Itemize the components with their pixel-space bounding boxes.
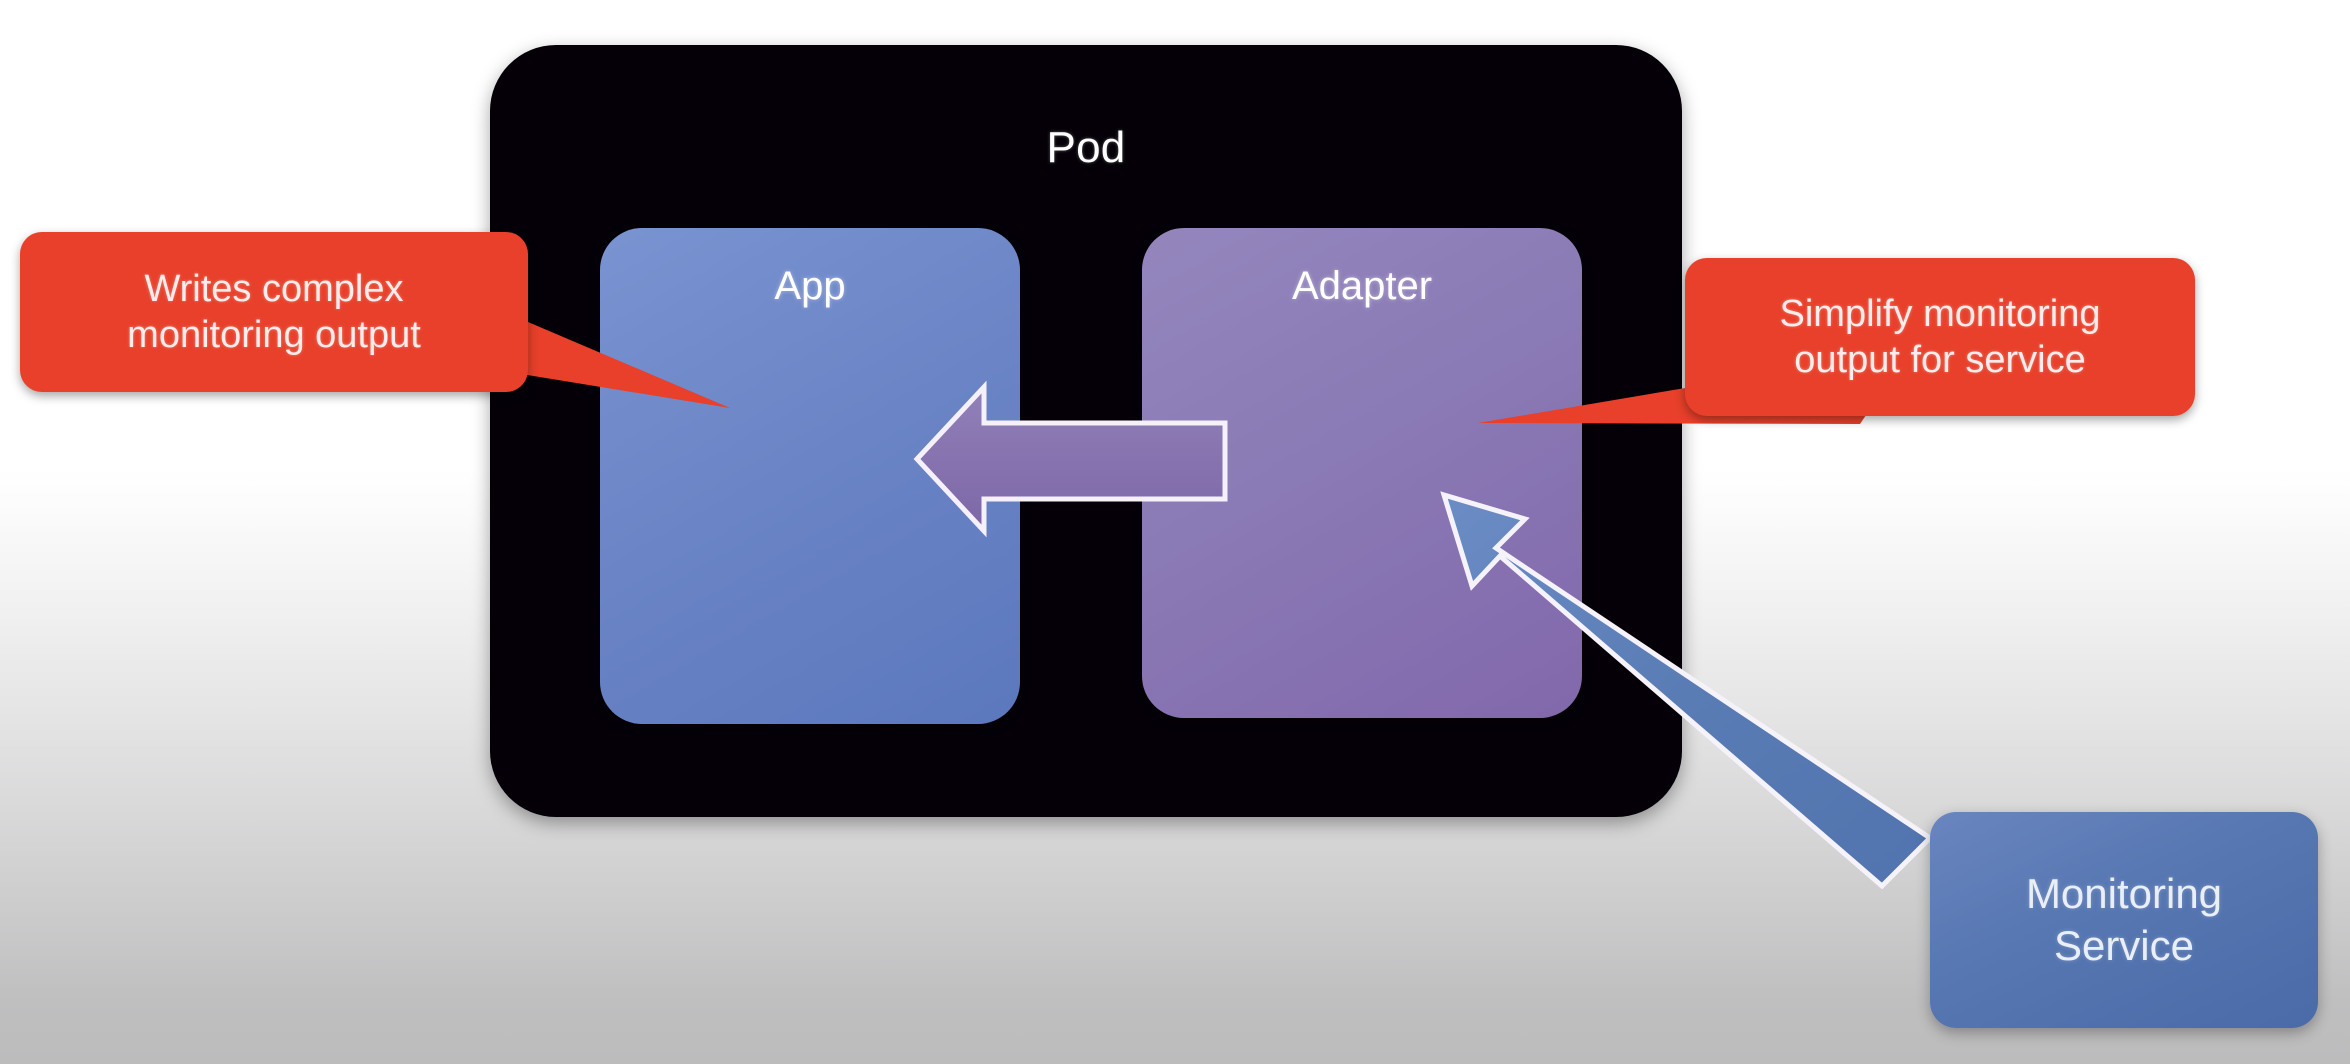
app-callout-text: Writes complex monitoring output — [113, 266, 435, 359]
pod-label: Pod — [490, 123, 1682, 173]
container-app-label: App — [600, 264, 1020, 309]
monitoring-service-box[interactable]: Monitoring Service — [1930, 812, 2318, 1028]
adapter-callout[interactable]: Simplify monitoring output for service — [1685, 258, 2195, 416]
adapter-callout-text: Simplify monitoring output for service — [1766, 291, 2115, 384]
container-app[interactable]: App — [600, 228, 1020, 724]
adapter-callout-line2: output for service — [1780, 337, 2101, 383]
app-callout-line2: monitoring output — [127, 312, 421, 358]
monitoring-service-line2: Service — [2026, 920, 2222, 973]
container-adapter-label: Adapter — [1142, 264, 1582, 309]
app-callout[interactable]: Writes complex monitoring output — [20, 232, 528, 392]
monitoring-service-line1: Monitoring — [2026, 868, 2222, 921]
adapter-callout-line1: Simplify monitoring — [1780, 291, 2101, 337]
diagram-canvas: Pod App Adapter — [0, 0, 2350, 1064]
container-adapter[interactable]: Adapter — [1142, 228, 1582, 718]
monitoring-service-label: Monitoring Service — [2026, 868, 2222, 973]
app-callout-line1: Writes complex — [127, 266, 421, 312]
